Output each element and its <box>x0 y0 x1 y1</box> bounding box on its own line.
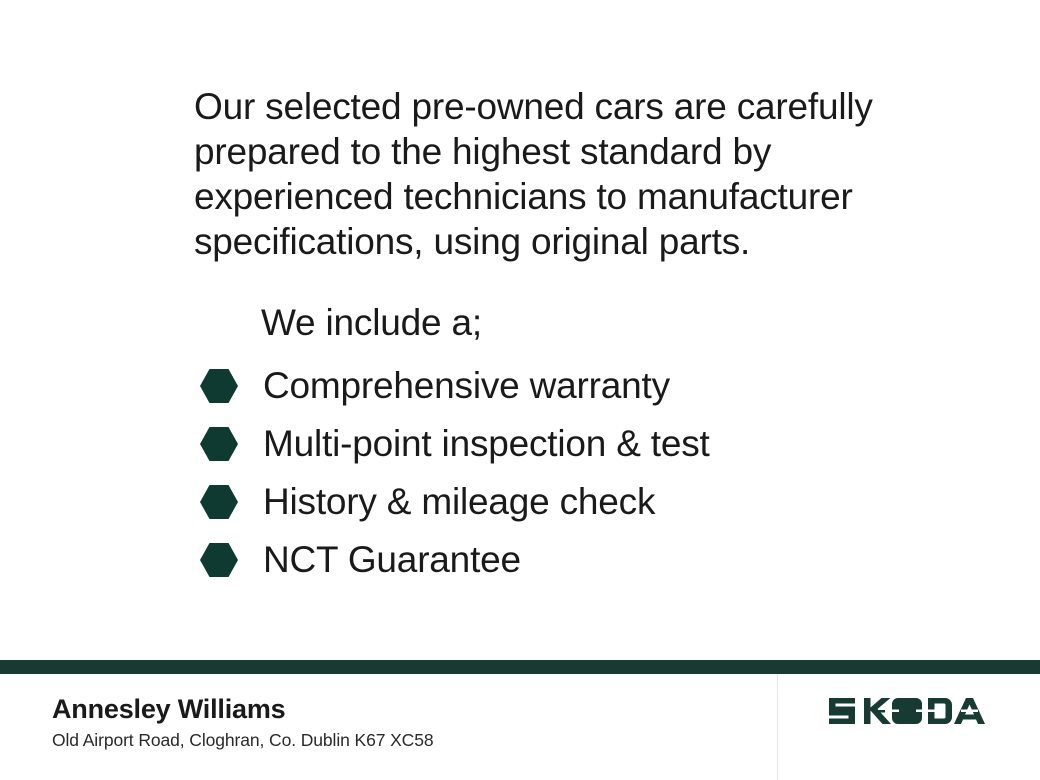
hexagon-bullet-icon <box>200 369 238 403</box>
skoda-wordmark-logo <box>828 694 988 728</box>
include-heading: We include a; <box>261 300 482 345</box>
hexagon-bullet-icon <box>200 543 238 577</box>
list-item: History & mileage check <box>200 473 900 531</box>
hexagon-bullet-icon <box>200 485 238 519</box>
benefits-list: Comprehensive warranty Multi-point inspe… <box>200 357 900 589</box>
dealer-block: Annesley Williams Old Airport Road, Clog… <box>52 693 433 752</box>
list-item: Multi-point inspection & test <box>200 415 900 473</box>
intro-paragraph: Our selected pre-owned cars are carefull… <box>194 84 894 264</box>
dealer-name: Annesley Williams <box>52 693 433 726</box>
list-item: Comprehensive warranty <box>200 357 900 415</box>
list-item-label: Comprehensive warranty <box>263 364 670 408</box>
list-item-label: NCT Guarantee <box>263 538 521 582</box>
dealer-address: Old Airport Road, Cloghran, Co. Dublin K… <box>52 729 433 752</box>
list-item-label: Multi-point inspection & test <box>263 422 710 466</box>
slide-canvas: Our selected pre-owned cars are carefull… <box>0 0 1040 780</box>
list-item: NCT Guarantee <box>200 531 900 589</box>
footer-accent-bar <box>0 660 1040 674</box>
hexagon-bullet-icon <box>200 427 238 461</box>
list-item-label: History & mileage check <box>263 480 655 524</box>
footer-vertical-divider <box>777 674 778 780</box>
